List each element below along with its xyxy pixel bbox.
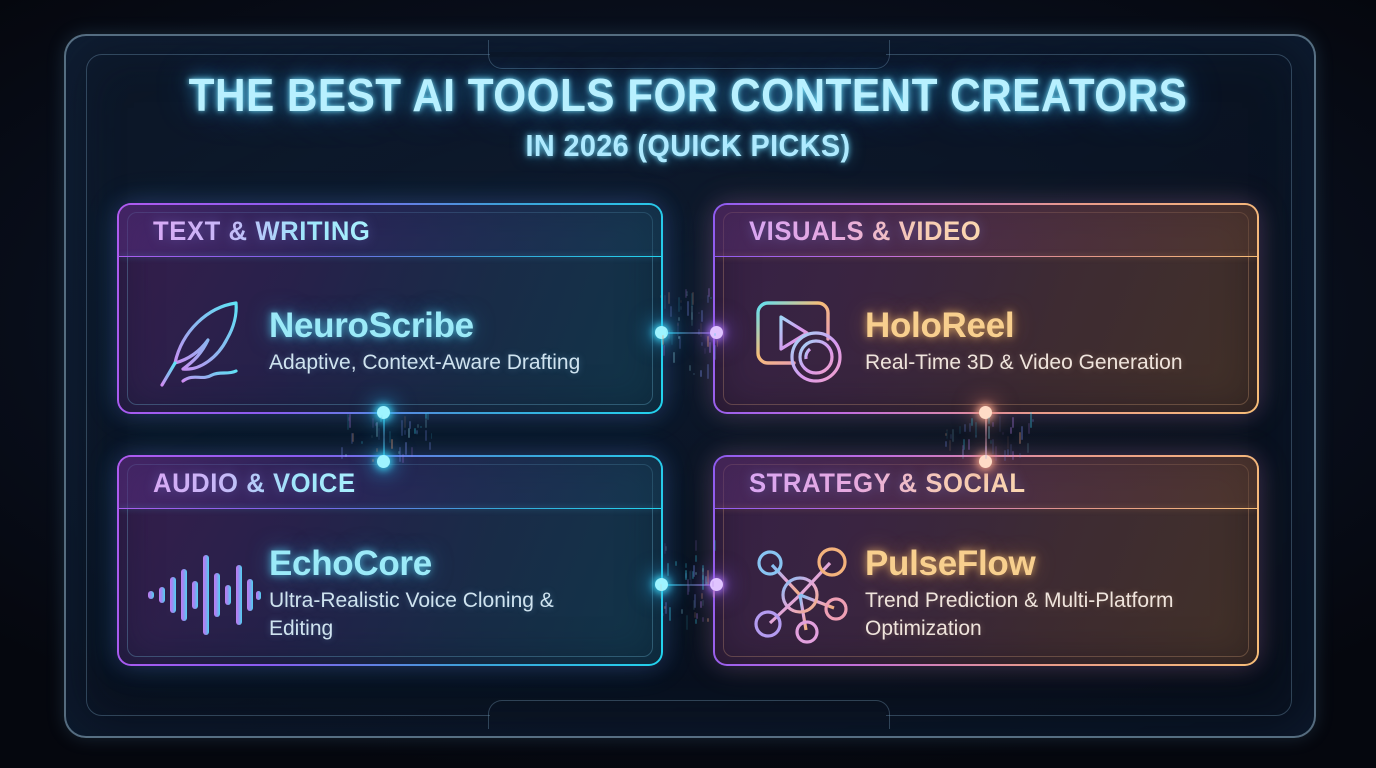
connector-text-to-visuals [655,325,723,341]
card-visuals-and-video[interactable]: VISUALS & VIDEO [713,203,1259,414]
card-audio-and-voice[interactable]: AUDIO & VOICE [117,455,663,666]
card-category-label: STRATEGY & SOCIAL [749,468,1026,499]
card-body: NeuroScribe Adaptive, Context-Aware Draf… [119,257,661,414]
card-body: PulseFlow Trend Prediction & Multi-Platf… [715,509,1257,666]
connector-node-right [710,578,723,591]
card-header: TEXT & WRITING [119,205,661,257]
tool-name: HoloReel [865,308,1183,345]
connector-node-top [979,406,992,419]
card-category-label: AUDIO & VOICE [153,468,356,499]
connector-node-bottom [377,455,390,468]
card-category-label: TEXT & WRITING [153,216,370,247]
connector-node-left [655,326,668,339]
tool-description: Ultra-Realistic Voice Cloning & Editing [269,587,621,643]
tool-name: EchoCore [269,546,621,583]
tool-description: Real-Time 3D & Video Generation [865,349,1183,377]
card-body: EchoCore Ultra-Realistic Voice Cloning &… [119,509,661,666]
card-text: PulseFlow Trend Prediction & Multi-Platf… [859,546,1217,643]
play-lens-icon [741,295,859,391]
connector-text-to-audio [376,406,392,468]
card-text: EchoCore Ultra-Realistic Voice Cloning &… [263,546,621,643]
audio-waveform-icon [145,546,263,644]
title-line-1: THE BEST AI TOOLS FOR CONTENT CREATORS [55,72,1321,118]
tool-name: NeuroScribe [269,308,580,345]
card-text-and-writing[interactable]: TEXT & WRITING Neur [117,203,663,414]
hud-bottom-notch-mask [490,712,886,717]
card-text: NeuroScribe Adaptive, Context-Aware Draf… [263,308,580,377]
page-title: THE BEST AI TOOLS FOR CONTENT CREATORS I… [0,72,1376,164]
tool-description: Trend Prediction & Multi-Platform Optimi… [865,587,1217,643]
card-category-label: VISUALS & VIDEO [749,216,981,247]
tool-description: Adaptive, Context-Aware Drafting [269,349,580,377]
tool-name: PulseFlow [865,546,1217,583]
connector-node-bottom [979,455,992,468]
card-body: HoloReel Real-Time 3D & Video Generation [715,257,1257,414]
connector-node-top [377,406,390,419]
network-nodes-icon [741,545,859,645]
card-header: VISUALS & VIDEO [715,205,1257,257]
hud-top-notch-mask [490,52,886,57]
feather-quill-icon [145,293,263,393]
connector-audio-to-strategy [655,577,723,593]
connector-node-right [710,326,723,339]
title-line-2: IN 2026 (QUICK PICKS) [48,128,1328,164]
card-text: HoloReel Real-Time 3D & Video Generation [859,308,1183,377]
connector-visuals-to-strategy [978,406,994,468]
card-strategy-and-social[interactable]: STRATEGY & SOCIAL [713,455,1259,666]
cards-grid: TEXT & WRITING Neur [117,203,1259,666]
connector-node-left [655,578,668,591]
